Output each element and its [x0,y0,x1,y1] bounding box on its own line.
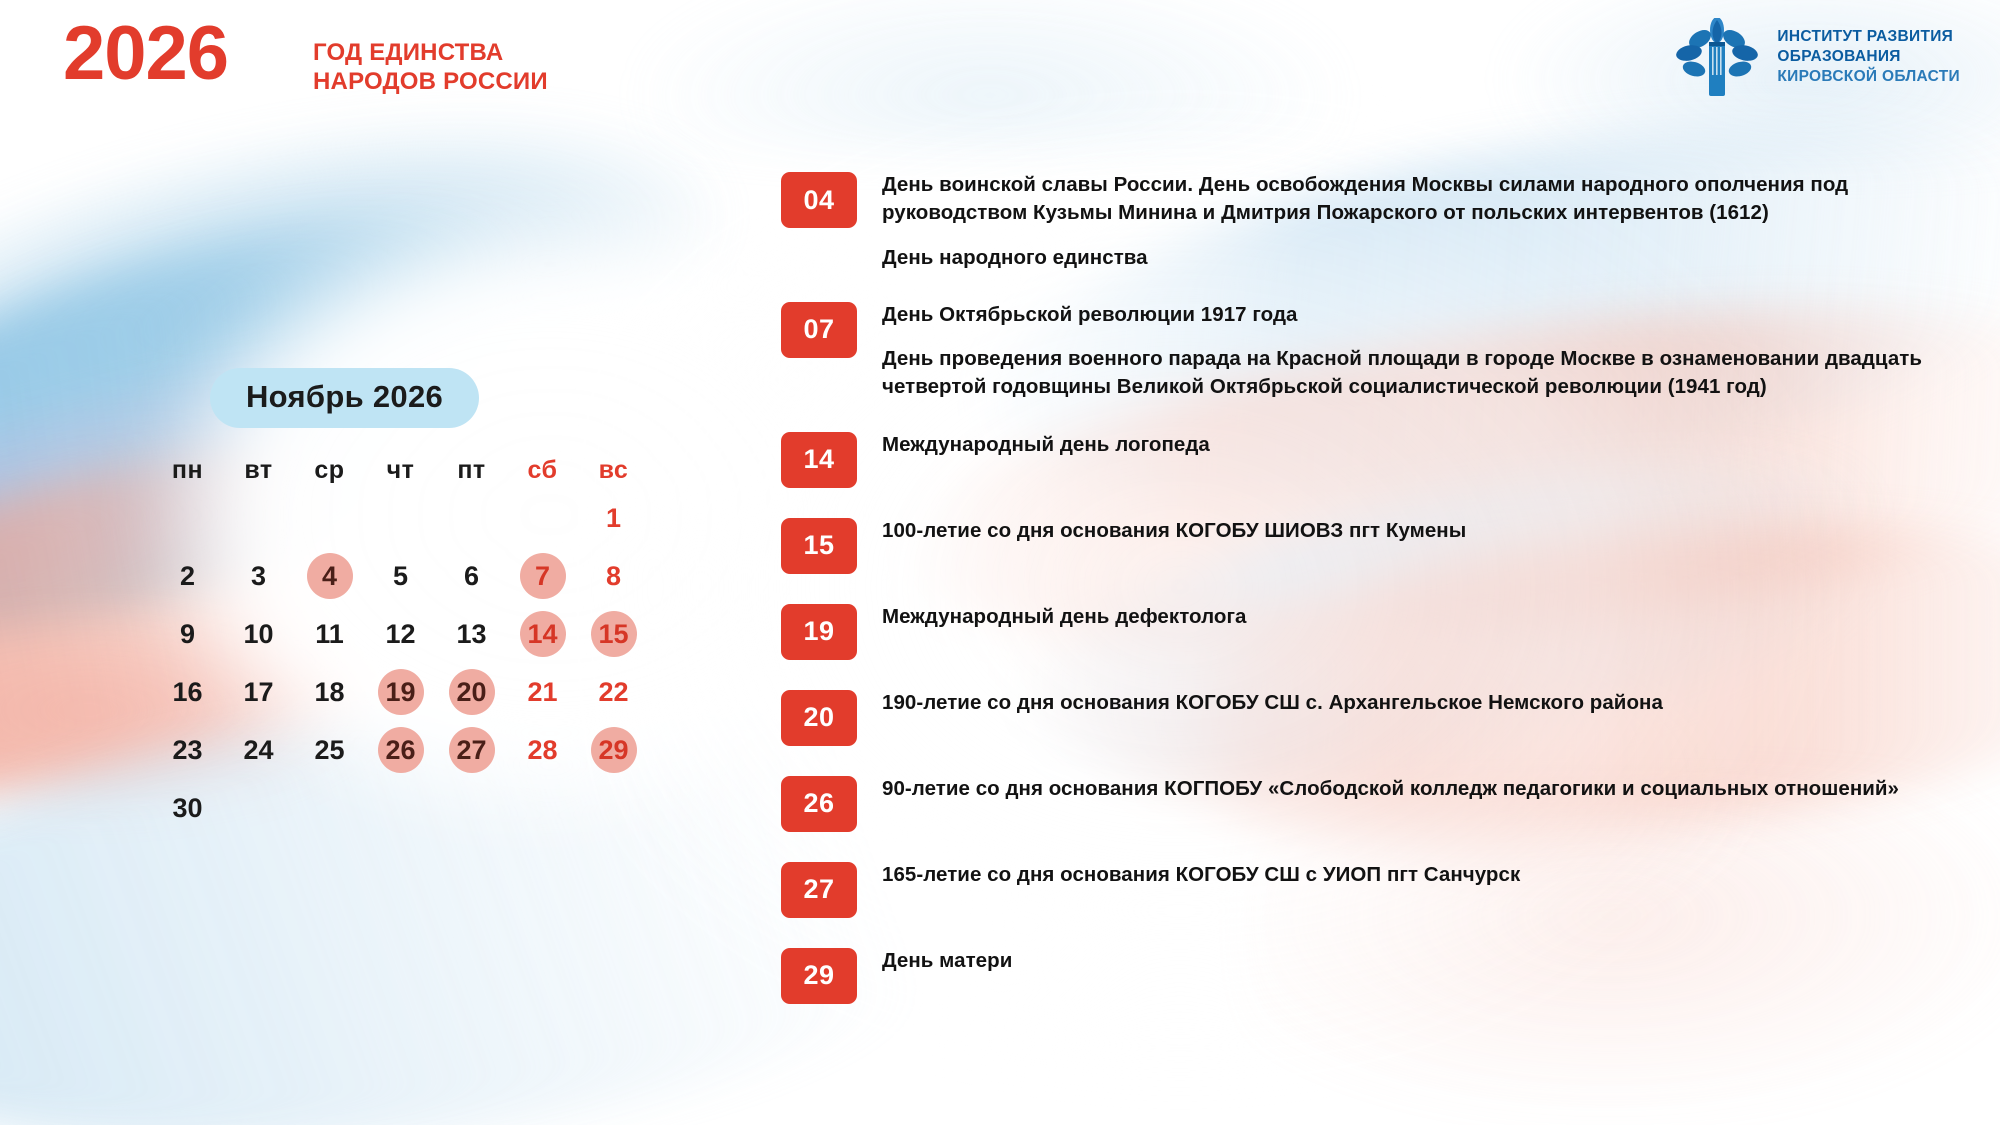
calendar-day-27[interactable]: 27 [436,721,507,779]
day-number: 4 [307,553,353,599]
day-number [236,495,282,541]
logo-text: ИНСТИТУТ РАЗВИТИЯ ОБРАЗОВАНИЯ КИРОВСКОЙ … [1777,27,1960,86]
calendar-day-empty [152,489,223,547]
day-number: 8 [591,553,637,599]
event-day-badge-26[interactable]: 26 [781,776,857,832]
day-number: 12 [378,611,424,657]
event-day-badge-15[interactable]: 15 [781,518,857,574]
weekday-header-пн: пн [152,456,223,489]
event-description: 100-летие со дня основания КОГОБУ ШИОВЗ … [882,517,1466,545]
calendar-day-17[interactable]: 17 [223,663,294,721]
event-day-badge-27[interactable]: 27 [781,862,857,918]
calendar-day-28[interactable]: 28 [507,721,578,779]
event-item: 19Международный день дефектолога [781,602,1961,660]
day-number: 30 [165,785,211,831]
day-number: 25 [307,727,353,773]
calendar-day-9[interactable]: 9 [152,605,223,663]
calendar-day-29[interactable]: 29 [578,721,649,779]
weekday-header-сб: сб [507,456,578,489]
calendar-day-30[interactable]: 30 [152,779,223,837]
calendar-day-10[interactable]: 10 [223,605,294,663]
day-number: 3 [236,553,282,599]
day-number [307,495,353,541]
event-day-badge-20[interactable]: 20 [781,690,857,746]
page-header: 2026 ГОД ЕДИНСТВА НАРОДОВ РОССИИ [0,0,2000,118]
event-item: 14Международный день логопеда [781,430,1961,488]
day-number: 14 [520,611,566,657]
calendar-day-23[interactable]: 23 [152,721,223,779]
day-number: 19 [378,669,424,715]
tagline: ГОД ЕДИНСТВА НАРОДОВ РОССИИ [313,38,548,97]
calendar-day-26[interactable]: 26 [365,721,436,779]
event-item: 20190-летие со дня основания КОГОБУ СШ с… [781,688,1961,746]
calendar-day-13[interactable]: 13 [436,605,507,663]
event-day-badge-29[interactable]: 29 [781,948,857,1004]
event-item: 07День Октябрьской революции 1917 годаДе… [781,300,1961,402]
day-number: 29 [591,727,637,773]
day-number [236,785,282,831]
tagline-line-2: НАРОДОВ РОССИИ [313,67,548,96]
calendar-day-25[interactable]: 25 [294,721,365,779]
day-number: 18 [307,669,353,715]
calendar-day-empty [223,489,294,547]
column-with-leaves-logo-icon [1671,18,1763,96]
day-number: 13 [449,611,495,657]
calendar-day-19[interactable]: 19 [365,663,436,721]
event-item: 04День воинской славы России. День освоб… [781,170,1961,272]
day-number: 9 [165,611,211,657]
month-title: Ноябрь 2026 [210,368,479,428]
day-number [520,785,566,831]
calendar-day-empty [436,489,507,547]
calendar-day-21[interactable]: 21 [507,663,578,721]
calendar-day-11[interactable]: 11 [294,605,365,663]
day-number [378,495,424,541]
event-texts: Международный день дефектолога [882,602,1247,631]
event-day-badge-07[interactable]: 07 [781,302,857,358]
day-number [591,785,637,831]
event-texts: Международный день логопеда [882,430,1210,459]
weekday-header-вт: вт [223,456,294,489]
day-number: 6 [449,553,495,599]
event-item: 29День матери [781,946,1961,1004]
day-number: 27 [449,727,495,773]
event-texts: 165-летие со дня основания КОГОБУ СШ с У… [882,860,1520,889]
day-number: 22 [591,669,637,715]
event-description: День матери [882,947,1012,975]
event-item: 15100-летие со дня основания КОГОБУ ШИОВ… [781,516,1961,574]
calendar-day-5[interactable]: 5 [365,547,436,605]
logo-line-1: ИНСТИТУТ РАЗВИТИЯ [1777,27,1960,47]
day-number: 7 [520,553,566,599]
calendar-day-empty [294,489,365,547]
day-number [449,495,495,541]
event-description: День проведения военного парада на Красн… [882,345,1961,402]
day-number [307,785,353,831]
event-description: 90-летие со дня основания КОГПОБУ «Слобо… [882,775,1899,803]
day-number: 15 [591,611,637,657]
calendar-day-empty [578,779,649,837]
day-number: 20 [449,669,495,715]
day-number: 2 [165,553,211,599]
calendar-day-2[interactable]: 2 [152,547,223,605]
day-number: 26 [378,727,424,773]
event-description: День воинской славы России. День освобож… [882,171,1961,228]
logo-line-3: КИРОВСКОЙ ОБЛАСТИ [1777,67,1960,87]
event-description: Международный день дефектолога [882,603,1247,631]
calendar-day-22[interactable]: 22 [578,663,649,721]
day-number: 28 [520,727,566,773]
event-description: День народного единства [882,244,1961,272]
calendar-grid: пнвтсрчтптсбвс12345678910111213141516171… [152,456,772,837]
calendar-day-4[interactable]: 4 [294,547,365,605]
calendar-day-empty [507,779,578,837]
calendar-day-6[interactable]: 6 [436,547,507,605]
calendar-day-24[interactable]: 24 [223,721,294,779]
calendar-day-empty [365,489,436,547]
day-number [165,495,211,541]
calendar-day-empty [294,779,365,837]
event-texts: 190-летие со дня основания КОГОБУ СШ с. … [882,688,1663,717]
day-number: 5 [378,553,424,599]
day-number: 24 [236,727,282,773]
event-texts: День Октябрьской революции 1917 годаДень… [882,300,1961,402]
weekday-header-вс: вс [578,456,649,489]
day-number [449,785,495,831]
calendar-day-18[interactable]: 18 [294,663,365,721]
weekday-header-чт: чт [365,456,436,489]
event-texts: 90-летие со дня основания КОГПОБУ «Слобо… [882,774,1899,803]
event-day-badge-04[interactable]: 04 [781,172,857,228]
calendar-day-1[interactable]: 1 [578,489,649,547]
year-title: 2026 [63,16,228,92]
event-texts: День матери [882,946,1012,975]
calendar-day-7[interactable]: 7 [507,547,578,605]
institute-logo: ИНСТИТУТ РАЗВИТИЯ ОБРАЗОВАНИЯ КИРОВСКОЙ … [1671,18,1960,96]
weekday-header-пт: пт [436,456,507,489]
day-number: 23 [165,727,211,773]
event-description: 165-летие со дня основания КОГОБУ СШ с У… [882,861,1520,889]
event-description: Международный день логопеда [882,431,1210,459]
calendar-day-15[interactable]: 15 [578,605,649,663]
calendar-day-empty [365,779,436,837]
day-number: 11 [307,611,353,657]
event-item: 27165-летие со дня основания КОГОБУ СШ с… [781,860,1961,918]
calendar-day-20[interactable]: 20 [436,663,507,721]
calendar-widget: Ноябрь 2026 пнвтсрчтптсбвс12345678910111… [152,368,772,837]
calendar-day-empty [436,779,507,837]
event-day-badge-19[interactable]: 19 [781,604,857,660]
event-description: День Октябрьской революции 1917 года [882,301,1961,329]
day-number: 21 [520,669,566,715]
day-number: 16 [165,669,211,715]
events-list: 04День воинской славы России. День освоб… [781,170,1961,1004]
day-number: 10 [236,611,282,657]
weekday-header-ср: ср [294,456,365,489]
calendar-day-empty [507,489,578,547]
logo-line-2: ОБРАЗОВАНИЯ [1777,47,1960,67]
day-number [378,785,424,831]
event-texts: День воинской славы России. День освобож… [882,170,1961,272]
event-day-badge-14[interactable]: 14 [781,432,857,488]
tagline-line-1: ГОД ЕДИНСТВА [313,38,548,67]
calendar-day-8[interactable]: 8 [578,547,649,605]
event-item: 2690-летие со дня основания КОГПОБУ «Сло… [781,774,1961,832]
day-number: 17 [236,669,282,715]
calendar-day-empty [223,779,294,837]
day-number [520,495,566,541]
calendar-day-14[interactable]: 14 [507,605,578,663]
day-number: 1 [591,495,637,541]
event-description: 190-летие со дня основания КОГОБУ СШ с. … [882,689,1663,717]
calendar-day-3[interactable]: 3 [223,547,294,605]
calendar-day-12[interactable]: 12 [365,605,436,663]
event-texts: 100-летие со дня основания КОГОБУ ШИОВЗ … [882,516,1466,545]
calendar-day-16[interactable]: 16 [152,663,223,721]
